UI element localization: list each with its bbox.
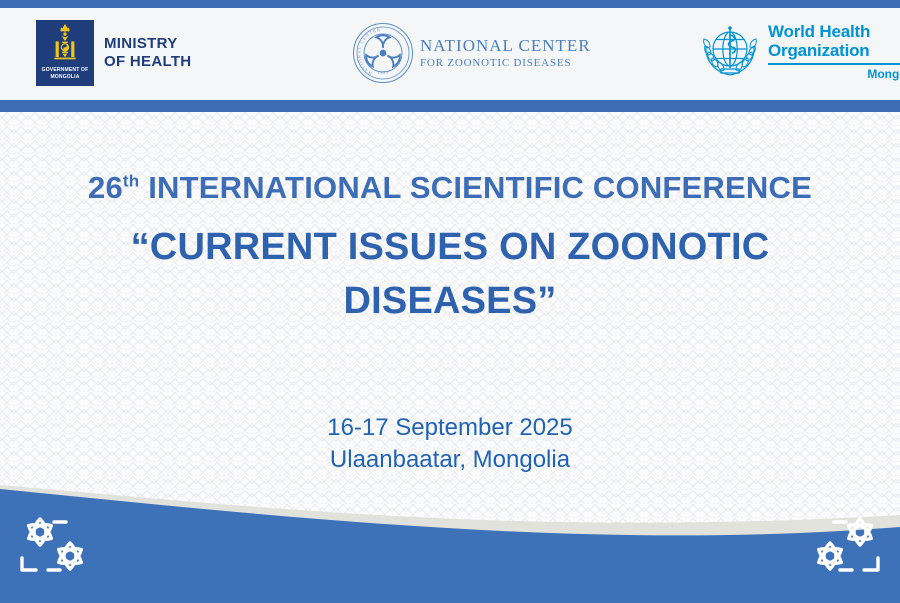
ministry-name-line2: OF HEALTH [104,53,191,71]
mongolia-state-emblem-icon: GOVERNMENT OF MONGOLIA [36,20,94,86]
conference-theme-line1: “CURRENT ISSUES ON ZOONOTIC [0,220,900,274]
top-accent-bar [0,0,900,8]
emblem-caption-line2: MONGOLIA [50,74,79,80]
emblem-caption-line1: GOVERNMENT OF [42,67,89,73]
conference-title-slide: GOVERNMENT OF MONGOLIA MINISTRY OF HEALT… [0,0,900,603]
edition-ordinal: th [123,172,139,191]
national-center-name-line2: FOR ZOONOTIC DISEASES [420,56,591,70]
knot-ornament-left [14,508,98,587]
header-divider-bar [0,100,900,112]
conference-title-block: 26th INTERNATIONAL SCIENTIFIC CONFERENCE… [0,168,900,328]
seal-year: 1951 [377,70,389,75]
ministry-name-line1: MINISTRY [104,35,191,53]
conference-theme-line2: DISEASES” [0,274,900,328]
who-name-line2: Organization [768,41,900,60]
national-center-name: NATIONAL CENTER FOR ZOONOTIC DISEASES [420,36,591,70]
who-country-label: Mongolia [768,67,900,81]
conference-edition-line: 26th INTERNATIONAL SCIENTIFIC CONFERENCE [0,168,900,208]
ministry-of-health-name: MINISTRY OF HEALTH [104,35,191,71]
knot-ornament-right [802,508,886,587]
who-emblem-icon [700,22,760,80]
who-underline-divider [768,63,900,65]
national-center-zoonotic-diseases-logo: NATIONAL CENTER FOR ZOONOTIC DISEASES 19… [352,22,591,84]
conference-subtitle: INTERNATIONAL SCIENTIFIC CONFERENCE [139,170,812,205]
edition-number: 26 [88,170,123,205]
wave-blue-band [0,489,900,603]
zoonotic-seal-icon: NATIONAL CENTER FOR ZOONOTIC DISEASES 19… [352,22,414,84]
ministry-of-health-logo: GOVERNMENT OF MONGOLIA MINISTRY OF HEALT… [36,20,191,86]
who-name-line1: World Health [768,22,900,41]
bottom-wave-decoration [0,463,900,603]
who-mongolia-logo: World Health Organization Mongolia [700,22,900,81]
who-wordmark: World Health Organization Mongolia [768,22,900,81]
conference-date: 16-17 September 2025 [0,412,900,444]
national-center-name-line1: NATIONAL CENTER [420,36,591,56]
